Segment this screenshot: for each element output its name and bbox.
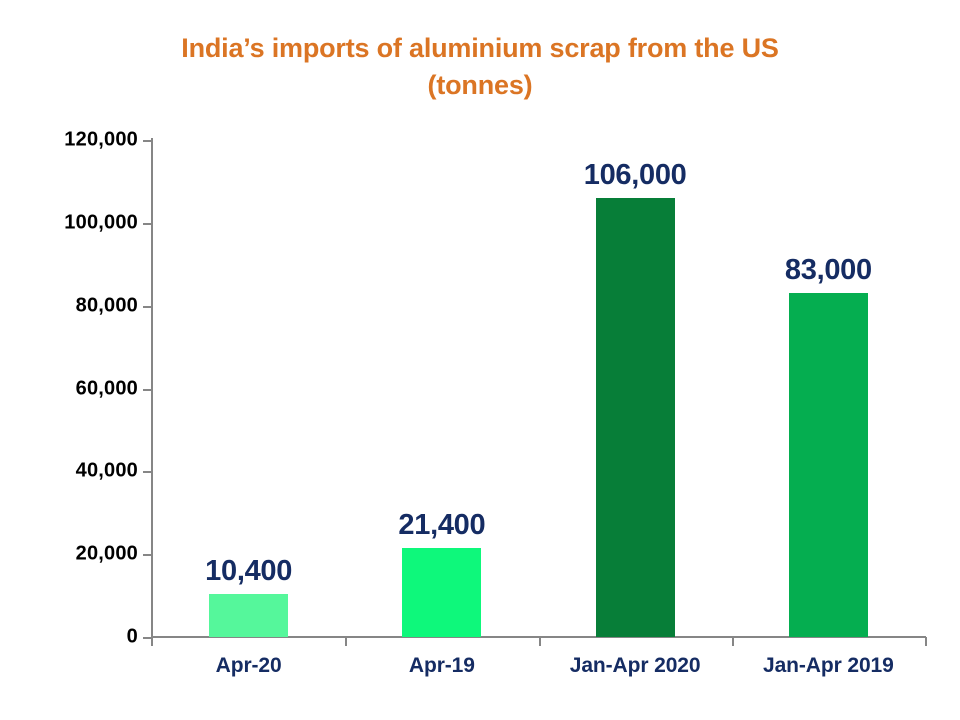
- chart-title-line-1: India’s imports of aluminium scrap from …: [120, 30, 840, 67]
- y-axis-tick: [143, 223, 152, 225]
- x-axis-tick: [345, 637, 347, 646]
- bar-value-label: 106,000: [584, 159, 687, 192]
- x-axis-category-label: Apr-20: [216, 654, 282, 678]
- x-axis-tick: [732, 637, 734, 646]
- y-axis-tick-label: 0: [127, 626, 138, 649]
- bar[interactable]: 106,000: [596, 198, 675, 637]
- y-axis-tick: [143, 140, 152, 142]
- x-axis-category-label: Apr-19: [409, 654, 475, 678]
- y-axis-tick-label: 40,000: [76, 460, 138, 483]
- x-axis-category-label: Jan-Apr 2020: [570, 654, 701, 678]
- chart-title: India’s imports of aluminium scrap from …: [120, 30, 840, 104]
- y-axis-tick-label: 80,000: [76, 294, 138, 317]
- bar-value-label: 10,400: [205, 555, 292, 588]
- bar-value-label: 83,000: [785, 254, 872, 287]
- y-axis-tick: [143, 306, 152, 308]
- y-axis-tick: [143, 471, 152, 473]
- plot-area: 020,00040,00060,00080,000100,000120,000 …: [152, 140, 925, 637]
- x-axis-tick: [925, 637, 927, 646]
- bar[interactable]: 21,400: [402, 548, 481, 637]
- x-axis-category-label: Jan-Apr 2019: [763, 654, 894, 678]
- y-axis-tick-label: 20,000: [76, 543, 138, 566]
- bar-chart: India’s imports of aluminium scrap from …: [0, 0, 960, 720]
- bar[interactable]: 10,400: [209, 594, 288, 637]
- y-axis-tick-label: 60,000: [76, 377, 138, 400]
- y-axis-tick: [143, 554, 152, 556]
- bar[interactable]: 83,000: [789, 293, 868, 637]
- chart-title-line-2: (tonnes): [120, 67, 840, 104]
- bar-value-label: 21,400: [398, 509, 485, 542]
- x-axis-tick: [539, 637, 541, 646]
- y-axis-tick: [143, 389, 152, 391]
- y-axis-tick-label: 120,000: [64, 129, 138, 152]
- y-axis-tick-label: 100,000: [64, 211, 138, 234]
- y-axis-tick: [143, 637, 152, 639]
